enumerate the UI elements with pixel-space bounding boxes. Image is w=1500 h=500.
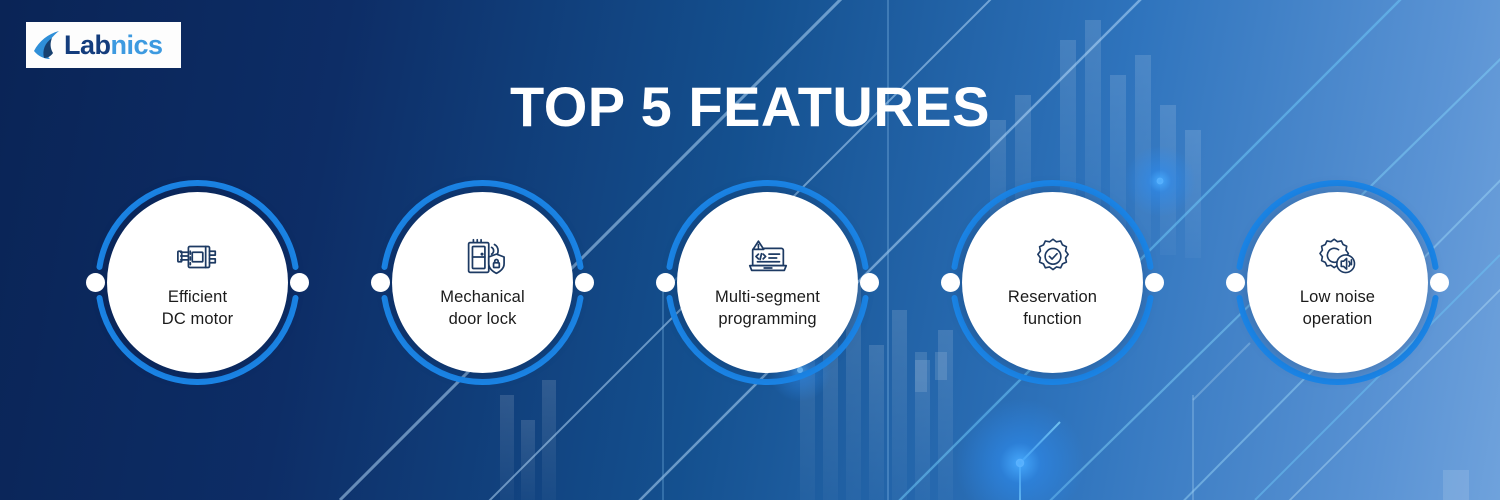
feature-label-line1: Multi-segment <box>715 287 820 309</box>
connector-dot-right <box>1430 273 1449 292</box>
feature-disc: Multi-segment programming <box>677 192 858 373</box>
connector-dot-left <box>371 273 390 292</box>
door-lock-icon <box>460 235 506 279</box>
glow-node-bottom <box>955 398 1085 500</box>
logo-wordmark: Labnics <box>64 32 163 59</box>
connector-dot-left <box>1226 273 1245 292</box>
feature-label-line2: function <box>1008 309 1097 331</box>
feature-label-line2: door lock <box>440 309 524 331</box>
logo-text-primary: Lab <box>64 30 111 60</box>
feature-disc: Efficient DC motor <box>107 192 288 373</box>
laptop-code-icon <box>745 235 791 279</box>
labnics-swoosh-icon <box>32 29 62 61</box>
connector-dot-right <box>575 273 594 292</box>
feature-label-line2: DC motor <box>162 309 233 331</box>
feature-label: Reservation function <box>1008 287 1097 331</box>
feature-item-reservation-function[interactable]: Reservation function <box>950 180 1155 385</box>
connector-dot-left <box>86 273 105 292</box>
page-title: TOP 5 FEATURES <box>0 74 1500 139</box>
feature-item-multi-segment-programming[interactable]: Multi-segment programming <box>665 180 870 385</box>
feature-label-line1: Low noise <box>1300 287 1375 309</box>
feature-disc: Mechanical door lock <box>392 192 573 373</box>
feature-item-efficient-dc-motor[interactable]: Efficient DC motor <box>95 180 300 385</box>
feature-label-line2: programming <box>715 309 820 331</box>
feature-label-line1: Efficient <box>162 287 233 309</box>
feature-label: Low noise operation <box>1300 287 1375 331</box>
feature-label-line1: Reservation <box>1008 287 1097 309</box>
gear-speaker-icon <box>1315 235 1361 279</box>
connector-dot-right <box>1145 273 1164 292</box>
feature-list: Efficient DC motor <box>95 180 1440 385</box>
connector-dot-right <box>290 273 309 292</box>
connector-dot-right <box>860 273 879 292</box>
feature-item-mechanical-door-lock[interactable]: Mechanical door lock <box>380 180 585 385</box>
feature-label-line1: Mechanical <box>440 287 524 309</box>
feature-label-line2: operation <box>1300 309 1375 331</box>
feature-disc: Reservation function <box>962 192 1143 373</box>
feature-label: Mechanical door lock <box>440 287 524 331</box>
labnics-logo[interactable]: Labnics <box>26 22 181 68</box>
feature-label: Multi-segment programming <box>715 287 820 331</box>
feature-item-low-noise-operation[interactable]: Low noise operation <box>1235 180 1440 385</box>
features-banner: Labnics TOP 5 FEATURES <box>0 0 1500 500</box>
logo-text-secondary: nics <box>111 30 163 60</box>
dc-motor-icon <box>175 235 221 279</box>
feature-disc: Low noise operation <box>1247 192 1428 373</box>
feature-label: Efficient DC motor <box>162 287 233 331</box>
connector-dot-left <box>941 273 960 292</box>
connector-dot-left <box>656 273 675 292</box>
gear-check-icon <box>1030 235 1076 279</box>
